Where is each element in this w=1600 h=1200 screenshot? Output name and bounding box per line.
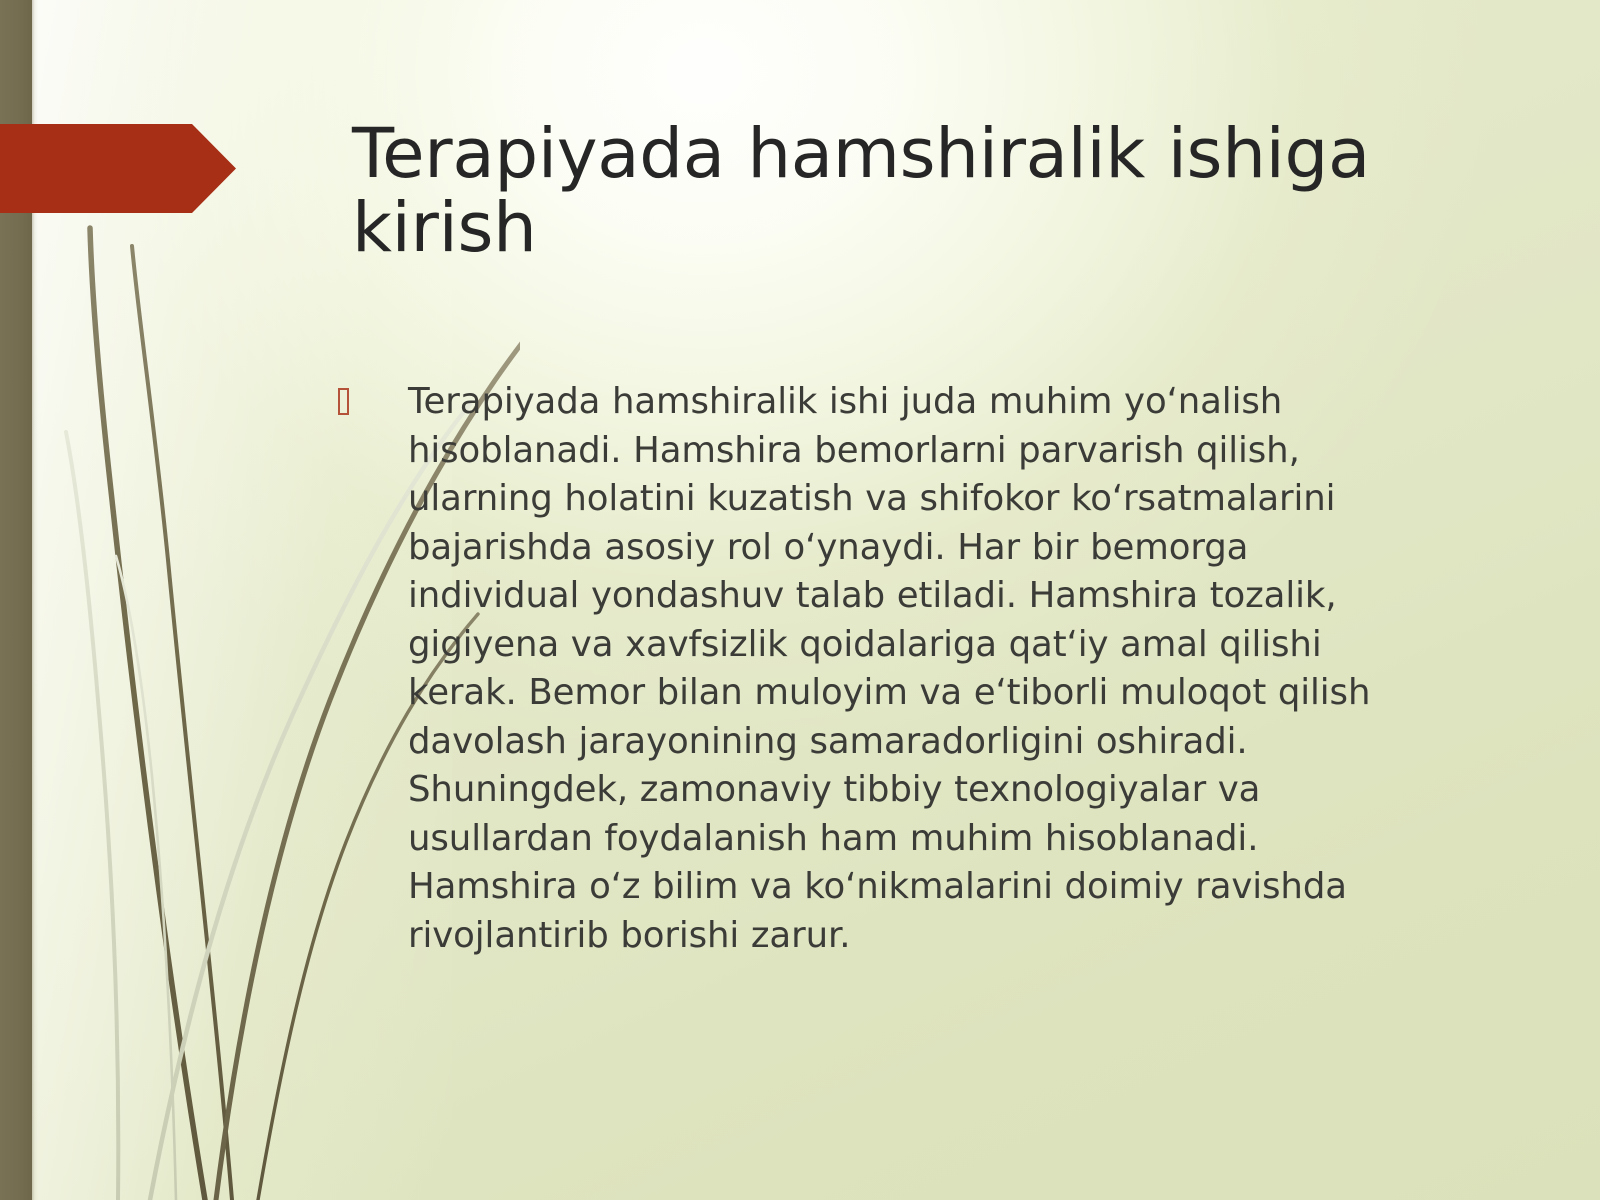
red-arrow-banner (0, 124, 236, 213)
bullet-marker-icon (338, 388, 349, 415)
content-placeholder: Terapiyada hamshiralik ishi juda muhim y… (338, 378, 1428, 960)
page-title: Terapiyada hamshiralik ishiga kirish (352, 118, 1492, 266)
presentation-slide: Terapiyada hamshiralik ishiga kirish Ter… (0, 0, 1600, 1200)
title-block: Terapiyada hamshiralik ishiga kirish (352, 118, 1492, 266)
bullet-paragraph: Terapiyada hamshiralik ishi juda muhim y… (408, 378, 1418, 960)
